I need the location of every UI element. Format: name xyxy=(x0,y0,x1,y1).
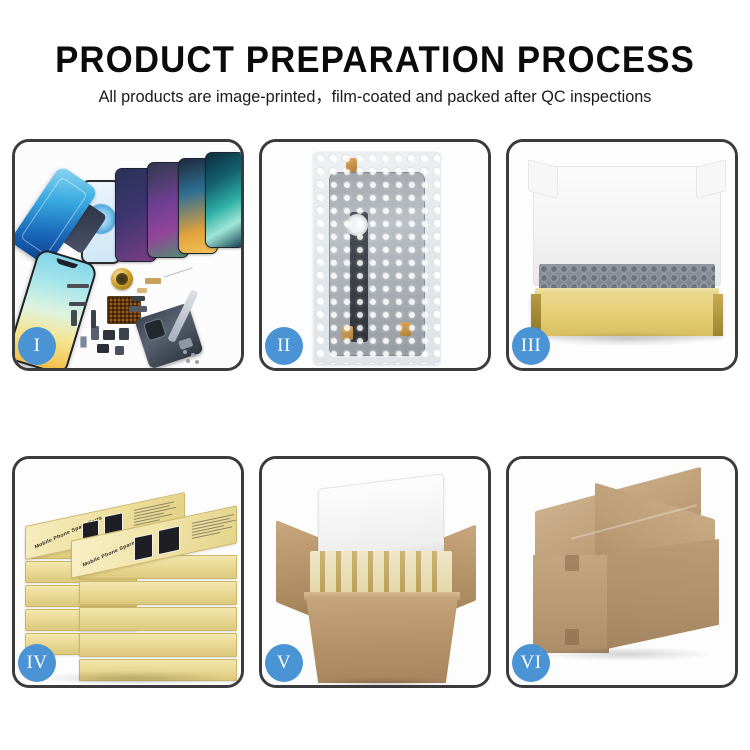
part-strip-gold xyxy=(145,278,161,284)
part-strip-2 xyxy=(131,296,145,301)
part-strip-gold-2 xyxy=(137,288,147,293)
process-step-3: III xyxy=(506,139,738,371)
carton-shadow-5 xyxy=(310,677,456,685)
spare-parts-group xyxy=(67,266,197,366)
inner-box-front xyxy=(531,294,723,336)
process-step-4: Mobile Phone Spare Parts Mobile Phone Sp… xyxy=(12,456,244,688)
gold-coil-part xyxy=(111,268,133,290)
carton-tape-lower xyxy=(565,629,579,645)
stack-slab-r4 xyxy=(79,633,237,657)
carton-right-face xyxy=(607,539,719,649)
part-sensor xyxy=(115,346,124,355)
stacked-boxes-group: Mobile Phone Spare Parts Mobile Phone Sp… xyxy=(19,475,241,679)
phone-cyan-waves xyxy=(205,152,241,248)
step-badge-2: II xyxy=(265,327,303,365)
part-strip-3 xyxy=(129,306,147,312)
step-badge-4: IV xyxy=(18,644,56,682)
stack-shadow xyxy=(37,671,227,685)
carton-tape-upper xyxy=(565,555,579,571)
step-badge-3: III xyxy=(512,327,550,365)
part-strip-4 xyxy=(69,302,87,306)
carton-shadow-6 xyxy=(541,647,711,661)
process-step-6: VI xyxy=(506,456,738,688)
part-strip-5 xyxy=(71,310,77,326)
carton-front-wall xyxy=(306,597,458,683)
stack-slab-r2 xyxy=(79,581,237,605)
page-subtitle: All products are image-printed，film-coat… xyxy=(6,87,745,107)
bubble-wrap-bag xyxy=(314,152,440,364)
bag-tape-top xyxy=(346,158,357,172)
page-title: PRODUCT PREPARATION PROCESS xyxy=(23,40,728,80)
stack-slab-r3 xyxy=(79,607,237,631)
part-speaker xyxy=(97,344,109,353)
part-block-3 xyxy=(119,328,129,340)
box-shadow-3 xyxy=(539,332,715,346)
step-badge-6: VI xyxy=(512,644,550,682)
screws-group xyxy=(183,350,201,364)
phone-lineup-group xyxy=(77,156,241,266)
step-badge-5: V xyxy=(265,644,303,682)
part-strip-1 xyxy=(67,284,89,288)
process-step-1: I xyxy=(12,139,244,371)
box-window-front-2 xyxy=(158,525,180,555)
wrapped-connector-ring xyxy=(346,214,368,236)
part-block-2 xyxy=(103,330,115,340)
part-block-1 xyxy=(91,326,99,340)
process-step-2: II xyxy=(259,139,491,371)
step-badge-1: I xyxy=(18,327,56,365)
box-window-front-1 xyxy=(134,533,153,561)
bag-tape-bottom-left xyxy=(342,326,353,340)
part-wire-1 xyxy=(164,267,193,277)
part-flex-1 xyxy=(91,310,96,328)
bag-tape-bottom-right xyxy=(400,322,411,336)
product-preparation-infographic: PRODUCT PREPARATION PROCESS All products… xyxy=(0,0,750,750)
box-spec-lines-front xyxy=(192,514,236,541)
part-battery xyxy=(80,336,87,348)
header: PRODUCT PREPARATION PROCESS All products… xyxy=(0,40,750,107)
process-step-5: V xyxy=(259,456,491,688)
process-step-grid: I II xyxy=(12,139,738,695)
